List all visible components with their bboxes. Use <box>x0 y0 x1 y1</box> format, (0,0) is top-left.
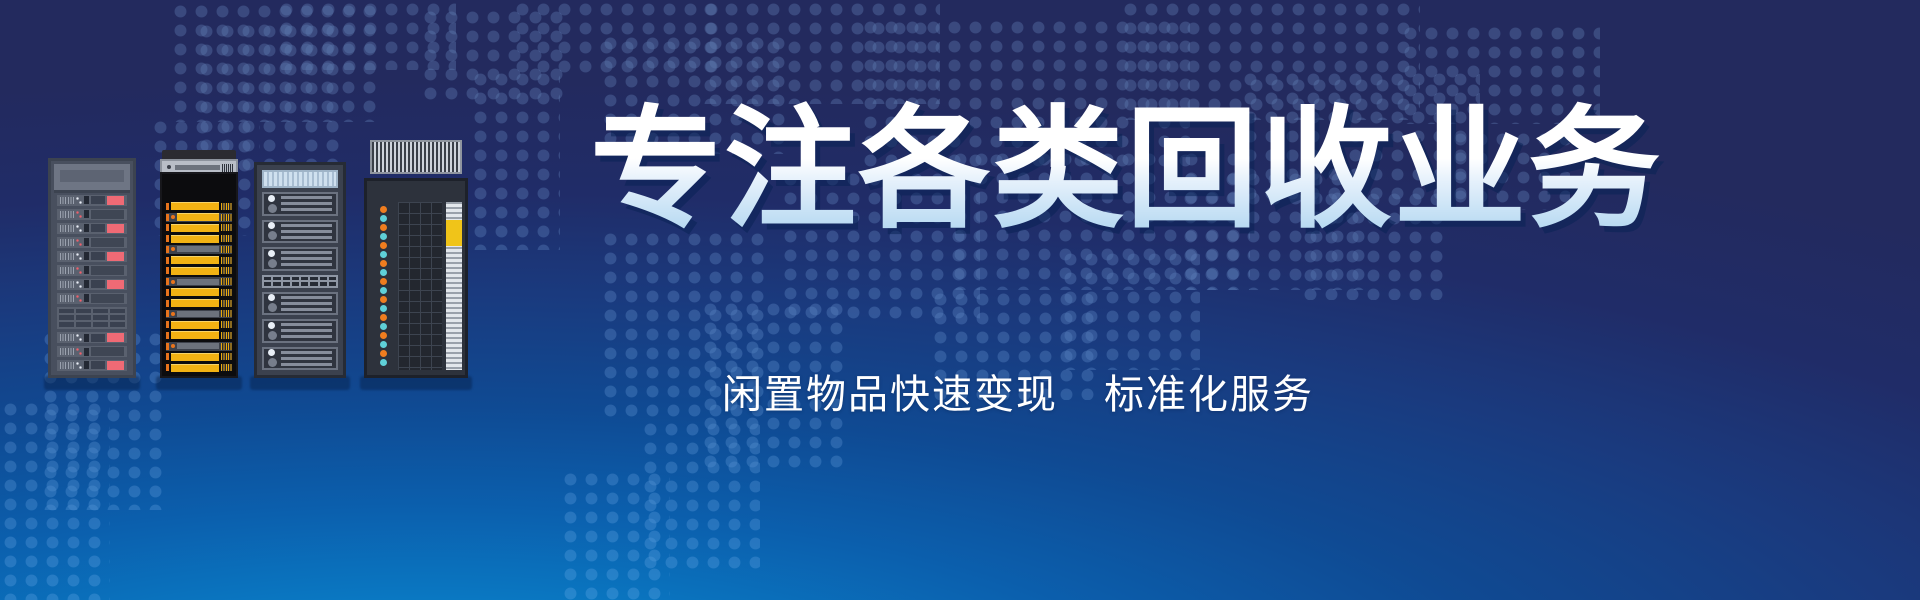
banner-subtitle: 闲置物品快速变现 标准化服务 <box>722 362 1314 420</box>
recycling-service-banner: 专注各类回收业务 闲置物品快速变现 标准化服务 <box>0 0 1920 600</box>
server-rack-darkgrey-blue <box>254 162 346 378</box>
subtitle-item-2: 标准化服务 <box>1104 362 1314 420</box>
server-rack-tower-led <box>364 140 468 378</box>
banner-headline: 专注各类回收业务 <box>590 96 1662 244</box>
server-rack-black-yellow <box>160 150 238 378</box>
subtitle-item-1: 闲置物品快速变现 <box>722 362 1058 420</box>
server-rack-grey-red <box>48 158 136 378</box>
